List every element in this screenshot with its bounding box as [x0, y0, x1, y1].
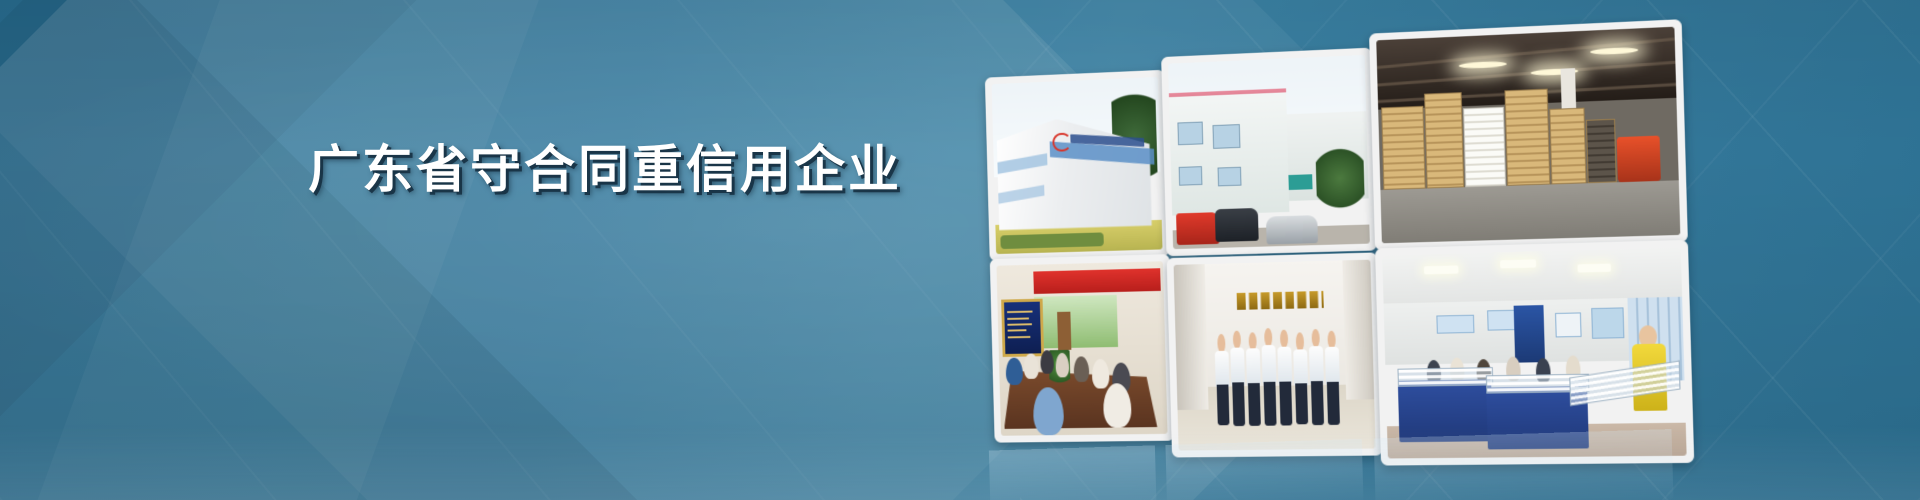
- collage-photo-4-image: [996, 261, 1167, 436]
- company-photo-collage: [982, 12, 1679, 461]
- page-title: 广东省守合同重信用企业: [308, 128, 902, 202]
- company-credit-banner: 广东省守合同重信用企业: [0, 0, 1920, 500]
- photo-4-red-banner: [1033, 268, 1160, 294]
- collage-photo-6-image: [1382, 247, 1686, 458]
- collage-photo-2-image: [1168, 55, 1370, 249]
- collage-photo-4[interactable]: [990, 254, 1175, 442]
- collage-photo-1[interactable]: [985, 70, 1170, 261]
- collage-photo-3-image: [1376, 27, 1680, 244]
- collage-photo-5[interactable]: [1167, 252, 1383, 457]
- photo-5-wall-signage: [1237, 291, 1324, 310]
- collage-photo-2[interactable]: [1161, 48, 1377, 257]
- collage-photo-3[interactable]: [1369, 19, 1688, 250]
- collage-photo-5-image: [1174, 260, 1376, 451]
- collage-photo-1-image: [992, 77, 1163, 254]
